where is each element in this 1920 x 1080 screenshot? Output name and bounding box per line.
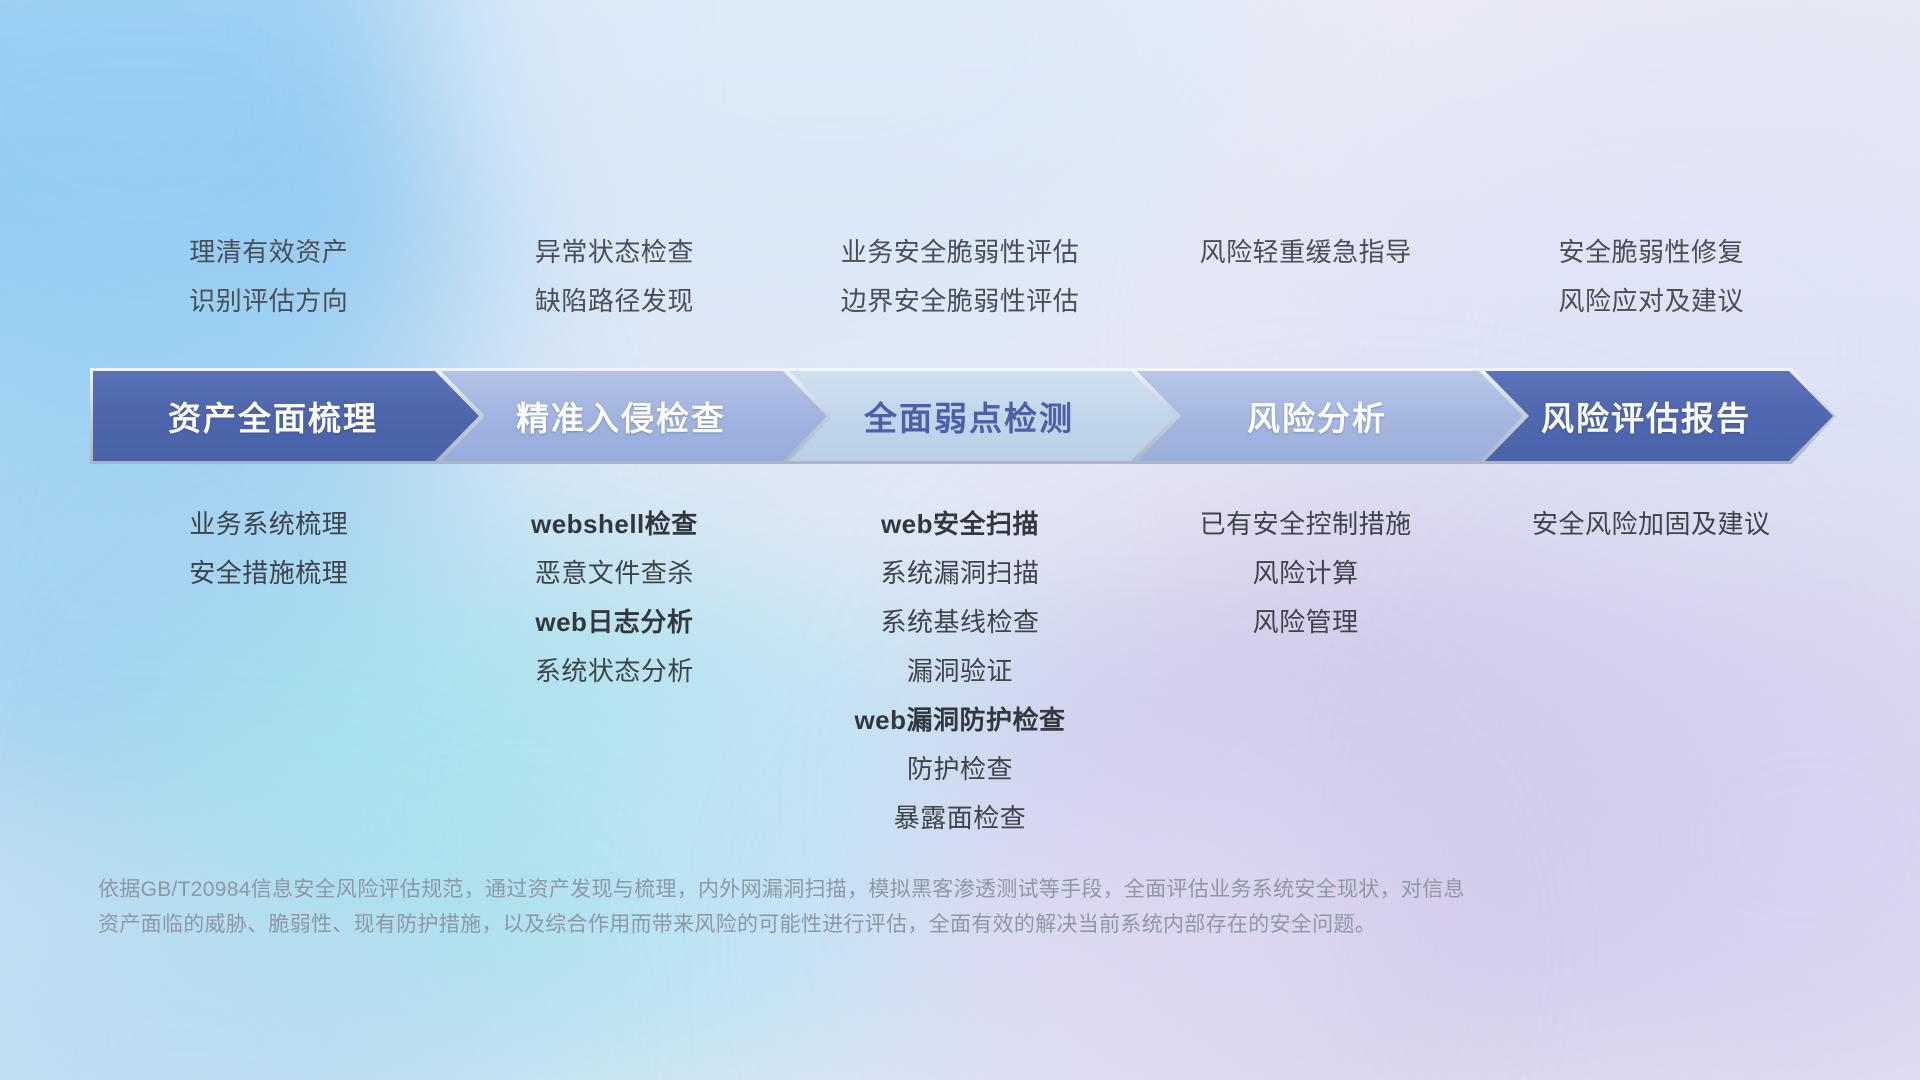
list-item: web漏洞防护检查 [787, 696, 1133, 745]
list-item: web日志分析 [442, 598, 788, 647]
note-text: 风险轻重缓急指导 [1133, 228, 1479, 277]
chevron-stage-1[interactable]: 资产全面梳理 [90, 368, 482, 464]
list-item: 安全风险加固及建议 [1478, 500, 1824, 549]
note-text: 边界安全脆弱性评估 [787, 277, 1133, 326]
chevron-stage-4[interactable]: 风险分析 [1134, 368, 1526, 464]
slide-canvas: 理清有效资产 识别评估方向 异常状态检查 缺陷路径发现 业务安全脆弱性评估 边界… [0, 0, 1920, 1080]
list-item: 系统漏洞扫描 [787, 549, 1133, 598]
note-text: 业务安全脆弱性评估 [787, 228, 1133, 277]
note-text: 安全脆弱性修复 [1478, 228, 1824, 277]
stage-items-3: web安全扫描 系统漏洞扫描 系统基线检查 漏洞验证 web漏洞防护检查 防护检… [787, 500, 1133, 843]
chevron-label: 风险评估报告 [1482, 392, 1836, 440]
list-item: web安全扫描 [787, 500, 1133, 549]
stage-items-5: 安全风险加固及建议 [1478, 500, 1824, 549]
list-item: 风险管理 [1133, 598, 1479, 647]
stage-items-4: 已有安全控制措施 风险计算 风险管理 [1133, 500, 1479, 647]
chevron-stage-3[interactable]: 全面弱点检测 [786, 368, 1178, 464]
stage-notes-2: 异常状态检查 缺陷路径发现 [442, 228, 788, 326]
chevron-label: 风险分析 [1134, 392, 1526, 440]
note-text: 异常状态检查 [442, 228, 788, 277]
list-item: 安全措施梳理 [96, 549, 442, 598]
footer-description: 依据GB/T20984信息安全风险评估规范，通过资产发现与梳理，内外网漏洞扫描，… [98, 872, 1618, 942]
list-item: 业务系统梳理 [96, 500, 442, 549]
stage-items-1: 业务系统梳理 安全措施梳理 [96, 500, 442, 598]
stage-notes-row: 理清有效资产 识别评估方向 异常状态检查 缺陷路径发现 业务安全脆弱性评估 边界… [96, 228, 1824, 326]
list-item: 已有安全控制措施 [1133, 500, 1479, 549]
list-item: 系统基线检查 [787, 598, 1133, 647]
footer-line-1: 依据GB/T20984信息安全风险评估规范，通过资产发现与梳理，内外网漏洞扫描，… [98, 872, 1618, 907]
note-text: 理清有效资产 [96, 228, 442, 277]
stage-items-row: 业务系统梳理 安全措施梳理 webshell检查 恶意文件查杀 web日志分析 … [96, 500, 1824, 843]
list-item: 系统状态分析 [442, 647, 788, 696]
chevron-stage-2[interactable]: 精准入侵检查 [438, 368, 830, 464]
stage-notes-4: 风险轻重缓急指导 [1133, 228, 1479, 277]
stage-notes-5: 安全脆弱性修复 风险应对及建议 [1478, 228, 1824, 326]
list-item: webshell检查 [442, 500, 788, 549]
footer-line-2: 资产面临的威胁、脆弱性、现有防护措施，以及综合作用而带来风险的可能性进行评估，全… [98, 907, 1618, 942]
stage-items-2: webshell检查 恶意文件查杀 web日志分析 系统状态分析 [442, 500, 788, 696]
stage-notes-1: 理清有效资产 识别评估方向 [96, 228, 442, 326]
chevron-label: 精准入侵检查 [438, 392, 830, 440]
chevron-label: 资产全面梳理 [90, 392, 482, 440]
process-chevron-band: 资产全面梳理 精准入侵检查 全面弱点检测 [90, 368, 1836, 464]
chevron-label: 全面弱点检测 [786, 392, 1178, 440]
note-text: 风险应对及建议 [1478, 277, 1824, 326]
list-item: 暴露面检查 [787, 794, 1133, 843]
list-item: 防护检查 [787, 745, 1133, 794]
list-item: 恶意文件查杀 [442, 549, 788, 598]
list-item: 风险计算 [1133, 549, 1479, 598]
note-text: 识别评估方向 [96, 277, 442, 326]
stage-notes-3: 业务安全脆弱性评估 边界安全脆弱性评估 [787, 228, 1133, 326]
list-item: 漏洞验证 [787, 647, 1133, 696]
chevron-stage-5[interactable]: 风险评估报告 [1482, 368, 1836, 464]
note-text: 缺陷路径发现 [442, 277, 788, 326]
